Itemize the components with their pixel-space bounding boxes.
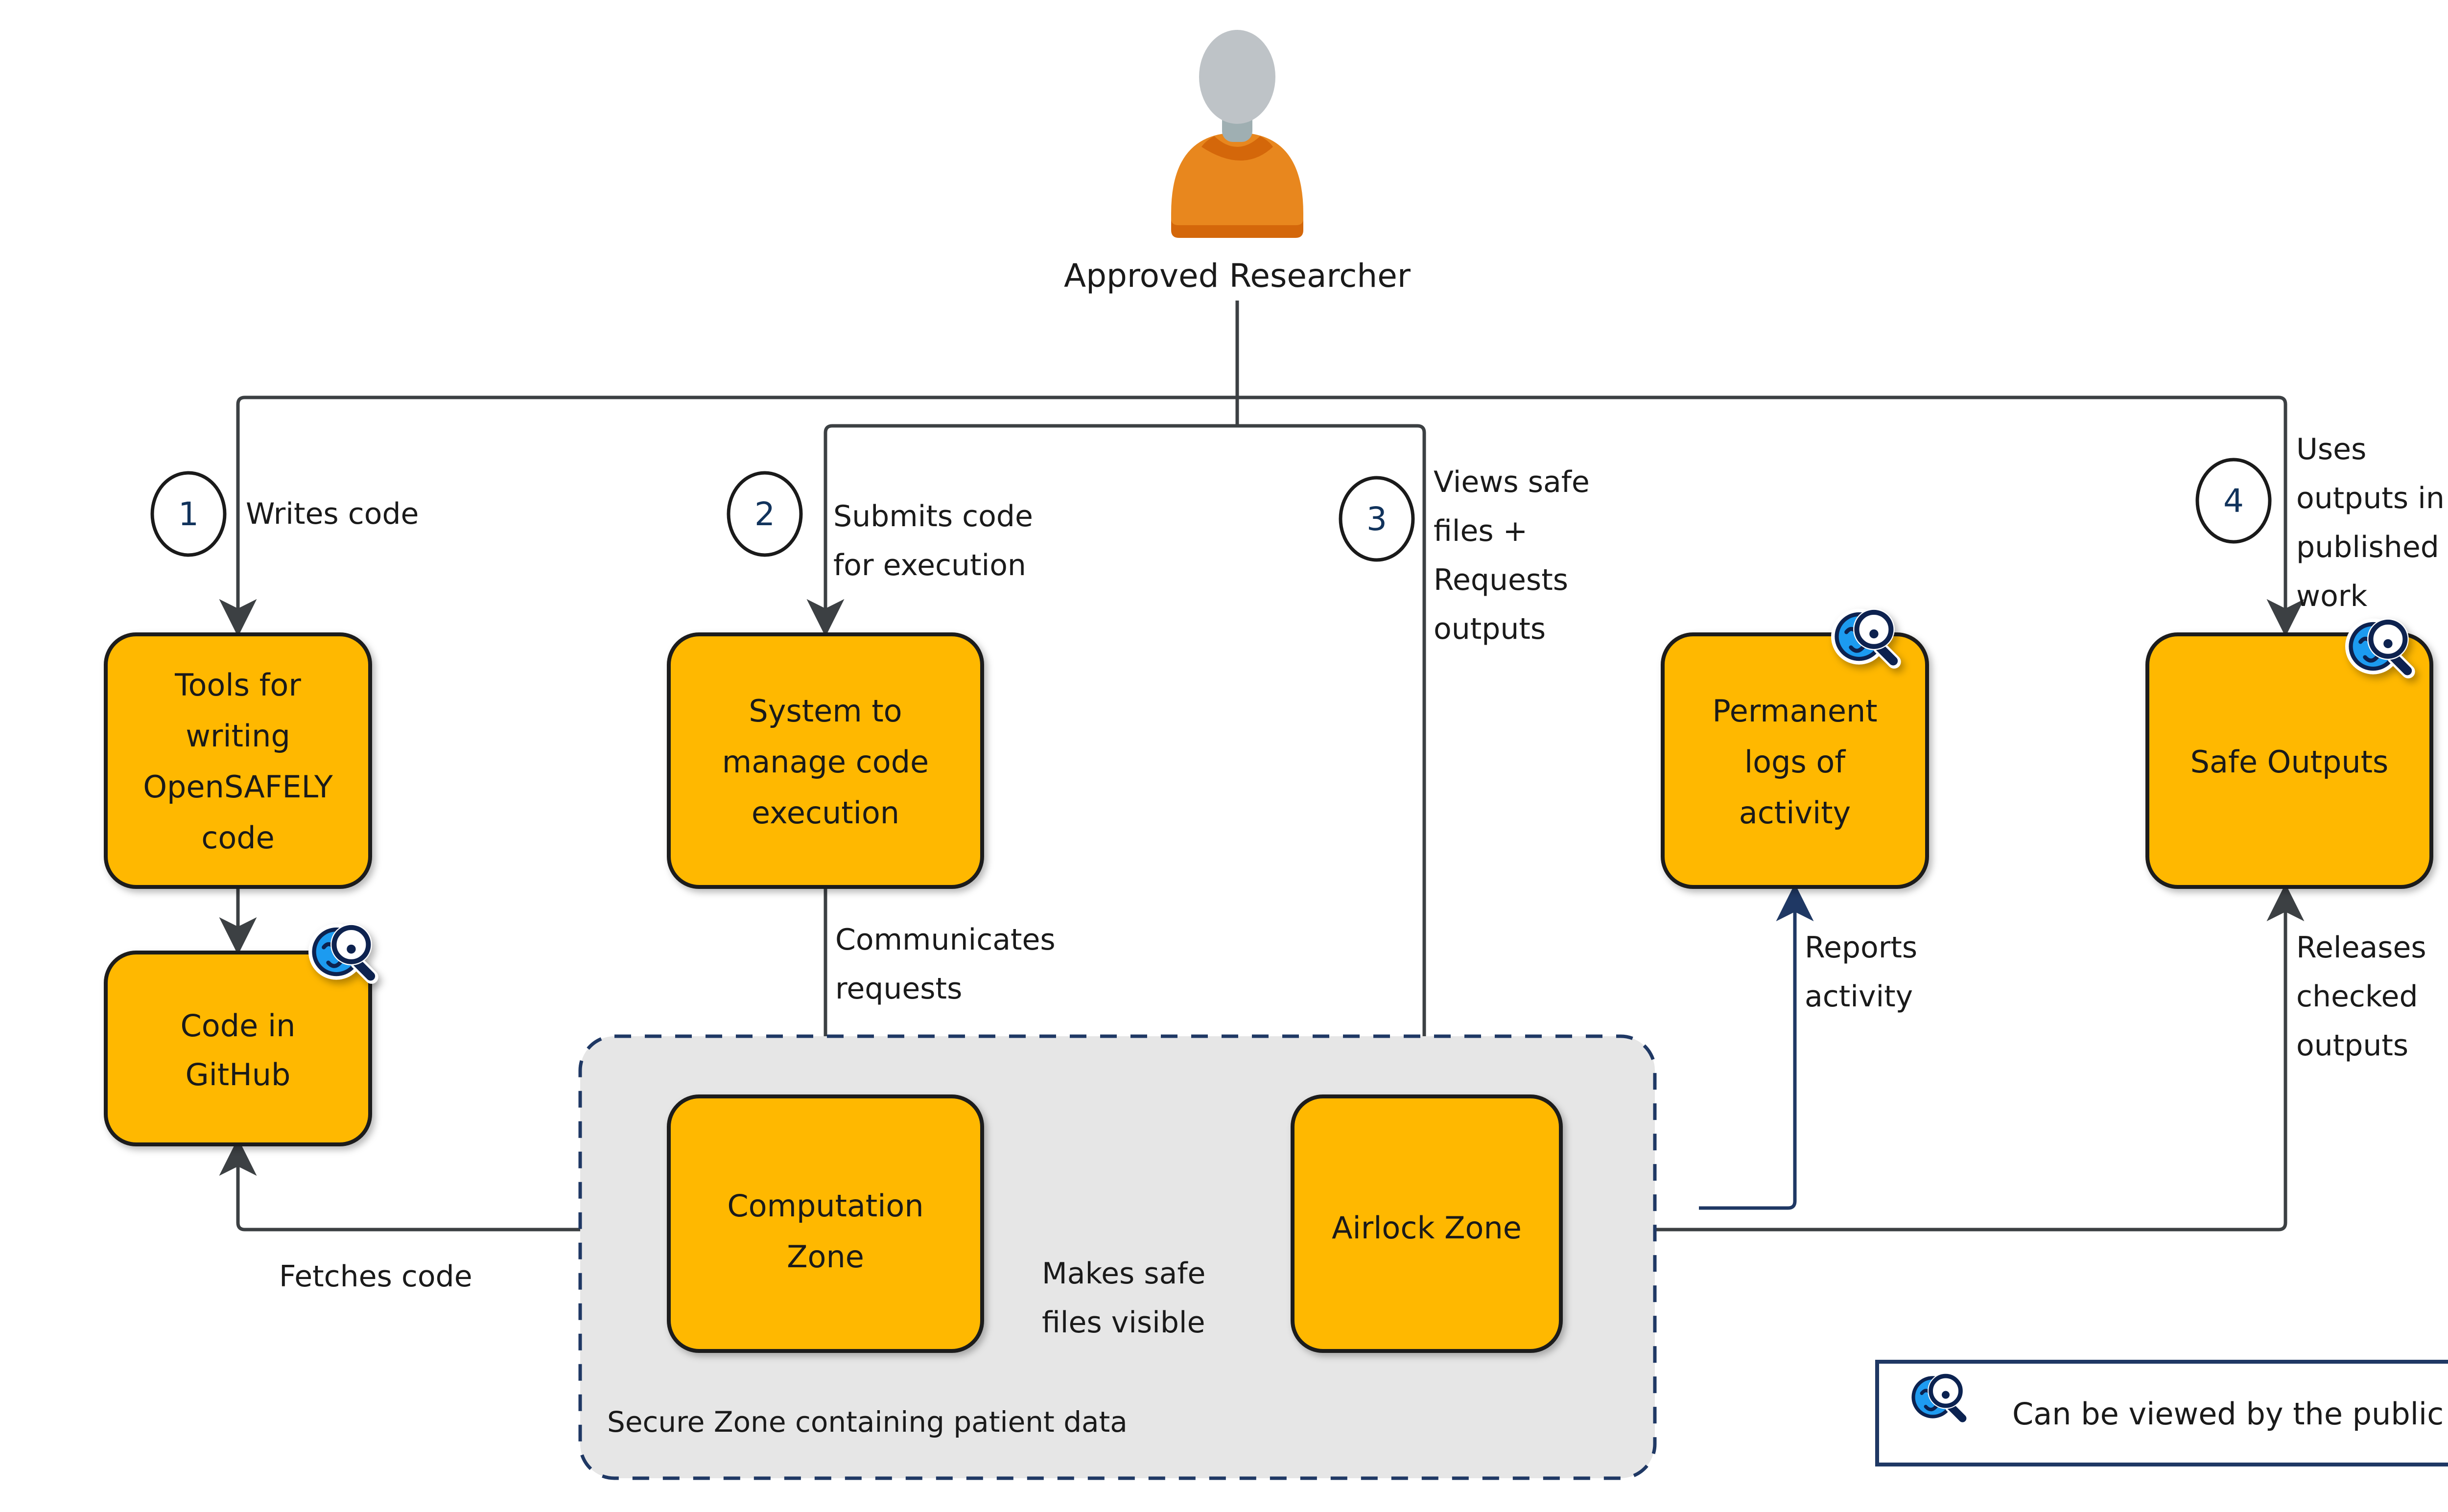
node-label-line: OpenSAFELY bbox=[143, 769, 333, 805]
legend: Can be viewed by the public bbox=[1877, 1362, 2448, 1465]
step-badge-4: 4 bbox=[2197, 460, 2270, 542]
node-permanent-logs-of-activity[interactable]: Permanent logs of activity bbox=[1663, 634, 1927, 887]
step-label-line: published bbox=[2296, 530, 2439, 564]
step-label-line: Uses bbox=[2296, 432, 2366, 466]
step-label-line: files + bbox=[1434, 514, 1528, 548]
public-view-icon bbox=[308, 921, 372, 980]
actor-approved-researcher: Approved Researcher bbox=[1064, 30, 1411, 295]
step-label-line: outputs bbox=[1434, 612, 1546, 646]
step-label-line: Submits code bbox=[833, 499, 1033, 534]
node-label-line: writing bbox=[186, 718, 290, 754]
step-number: 1 bbox=[178, 495, 199, 533]
step-number: 4 bbox=[2223, 482, 2244, 520]
step-number: 3 bbox=[1366, 500, 1387, 538]
node-label-line: Safe Outputs bbox=[2190, 744, 2389, 780]
node-airlock-zone[interactable]: Airlock Zone bbox=[1293, 1096, 1561, 1351]
flow-diagram: Approved Researcher Secure Zone co bbox=[0, 0, 2448, 1512]
node-code-in-github[interactable]: Code in GitHub bbox=[106, 921, 372, 1144]
step-badge-3: 3 bbox=[1341, 478, 1413, 560]
step-label-4: Uses outputs in published work bbox=[2296, 432, 2445, 613]
legend-label: Can be viewed by the public bbox=[2012, 1396, 2444, 1432]
node-system-to-manage-code-execution[interactable]: System to manage code execution bbox=[669, 634, 982, 887]
step-label-line: Requests bbox=[1434, 563, 1568, 597]
step-label-line: work bbox=[2296, 579, 2367, 613]
public-view-icon bbox=[1831, 606, 1894, 665]
step-badge-2: 2 bbox=[729, 473, 801, 555]
node-safe-outputs[interactable]: Safe Outputs bbox=[2147, 634, 2431, 887]
edge-label-line: files visible bbox=[1042, 1305, 1205, 1340]
person-icon bbox=[1171, 30, 1303, 238]
step-label-2: Submits code for execution bbox=[833, 499, 1033, 582]
node-tools-for-writing-opensafely-code[interactable]: Tools for writing OpenSAFELY code bbox=[106, 634, 370, 887]
step-badge-1: 1 bbox=[152, 473, 225, 555]
node-computation-zone[interactable]: Computation Zone bbox=[669, 1096, 982, 1351]
node-label-line: activity bbox=[1739, 795, 1851, 831]
step-label-3: Views safe files + Requests outputs bbox=[1434, 465, 1590, 646]
node-label-line: Computation bbox=[727, 1188, 923, 1224]
node-label-line: logs of bbox=[1744, 744, 1846, 780]
public-view-icon bbox=[2345, 616, 2408, 675]
edge-label-releases-checked-outputs: Releases checked outputs bbox=[2296, 930, 2426, 1063]
edge-label-line: Releases bbox=[2296, 930, 2426, 965]
step-label-line: Writes code bbox=[246, 497, 419, 531]
diagram-canvas: Approved Researcher Secure Zone co bbox=[0, 0, 2448, 1512]
node-label-line: code bbox=[201, 820, 275, 856]
edge-label-communicates-requests: Communicates requests bbox=[835, 923, 1056, 1006]
node-label-line: Code in bbox=[181, 1008, 296, 1044]
step-label-1: Writes code bbox=[246, 497, 419, 531]
edge-label-line: checked bbox=[2296, 979, 2418, 1014]
node-label-line: System to bbox=[749, 693, 902, 729]
edge-label-line: Communicates bbox=[835, 923, 1056, 957]
step-label-line: Views safe bbox=[1434, 465, 1590, 499]
edge-label-line: activity bbox=[1805, 979, 1913, 1014]
edge-label-line: Fetches code bbox=[279, 1259, 472, 1294]
edge-label-line: outputs bbox=[2296, 1028, 2408, 1063]
edge-label-fetches-code: Fetches code bbox=[279, 1259, 472, 1294]
step-label-line: for execution bbox=[833, 548, 1026, 582]
edge-reports-activity bbox=[1699, 890, 1795, 1208]
edge-reports-activity-layer bbox=[1699, 890, 1795, 1208]
node-label-line: Airlock Zone bbox=[1332, 1210, 1522, 1246]
node-label-line: manage code bbox=[722, 744, 929, 780]
node-label-line: Tools for bbox=[174, 667, 301, 703]
edge-label-line: Reports bbox=[1805, 930, 1917, 965]
node-label-line: execution bbox=[752, 795, 899, 831]
edge-releases-outputs bbox=[1561, 890, 2285, 1230]
step-label-line: outputs in bbox=[2296, 481, 2445, 515]
node-label-line: Zone bbox=[787, 1239, 864, 1275]
actor-label: Approved Researcher bbox=[1064, 257, 1411, 295]
node-label-line: Permanent bbox=[1712, 693, 1877, 729]
edge-label-line: Makes safe bbox=[1042, 1256, 1205, 1291]
edge-label-line: requests bbox=[835, 972, 962, 1006]
node-label-line: GitHub bbox=[186, 1057, 291, 1093]
secure-zone-label: Secure Zone containing patient data bbox=[607, 1405, 1128, 1439]
step-number: 2 bbox=[754, 495, 775, 533]
edge-label-reports-activity: Reports activity bbox=[1805, 930, 1917, 1014]
